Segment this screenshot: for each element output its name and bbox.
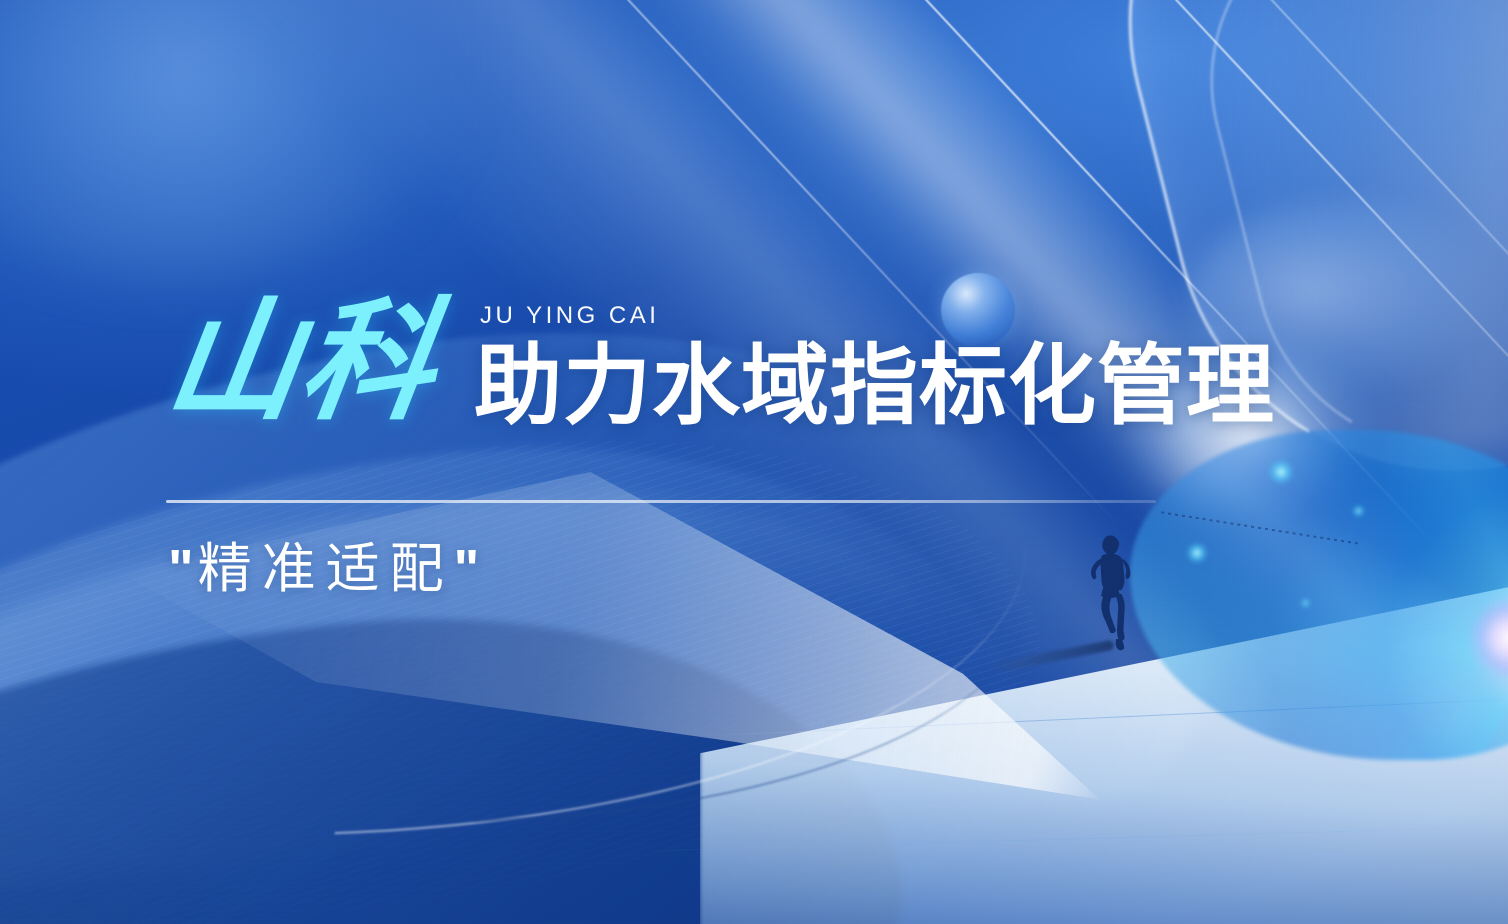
- subtitle-text: 精准适配: [198, 539, 454, 599]
- quote-open: ": [168, 539, 198, 599]
- banner-content: 山科 JU YING CAI 助力水域指标化管理 "精准适配": [0, 0, 1508, 924]
- title-stack: JU YING CAI 助力水域指标化管理: [474, 296, 1275, 430]
- subtitle: "精准适配": [168, 538, 483, 602]
- divider-line: [166, 500, 1156, 503]
- brand-pinyin: JU YING CAI: [474, 304, 1275, 328]
- title-row: 山科 JU YING CAI 助力水域指标化管理: [168, 296, 1275, 430]
- headline: 助力水域指标化管理: [474, 342, 1275, 430]
- promo-banner: 山科 JU YING CAI 助力水域指标化管理 "精准适配": [0, 0, 1508, 924]
- quote-close: ": [454, 539, 484, 599]
- brand-name: 山科: [159, 296, 446, 428]
